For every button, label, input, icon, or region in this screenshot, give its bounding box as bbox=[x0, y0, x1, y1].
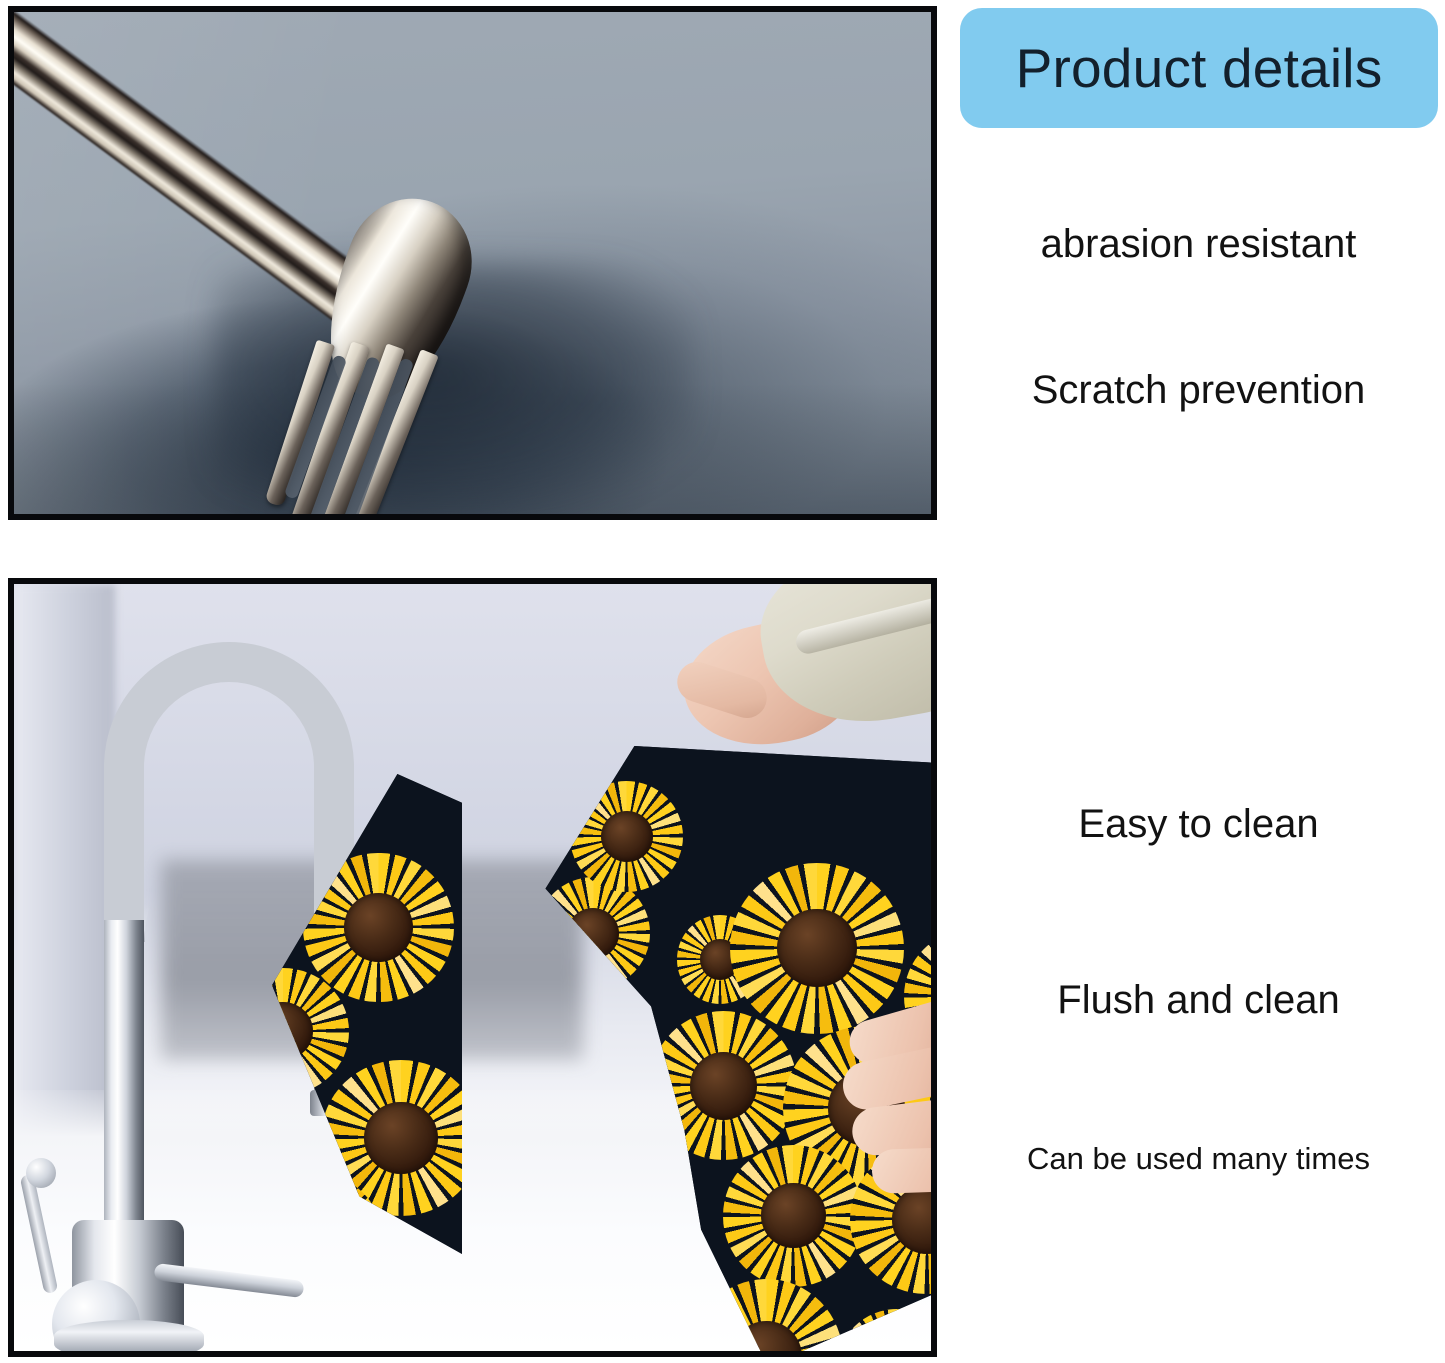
feature-abrasion-resistant: abrasion resistant bbox=[952, 222, 1445, 266]
faucet-side-lever-knob bbox=[26, 1158, 56, 1188]
feature-scratch-prevention: Scratch prevention bbox=[952, 368, 1445, 412]
feature-can-be-used-many-times: Can be used many times bbox=[952, 1142, 1445, 1176]
faucet-side-lever bbox=[20, 1174, 59, 1294]
lower-hand-holding-cloth bbox=[842, 1008, 937, 1188]
product-details-badge-label: Product details bbox=[1016, 41, 1383, 96]
faucet-riser bbox=[104, 920, 144, 1240]
product-details-panel: Product details abrasion resistant Scrat… bbox=[952, 0, 1445, 1363]
faucet-chrome-highlight bbox=[104, 642, 354, 942]
fork-on-countertop-photo bbox=[8, 6, 937, 520]
product-details-badge: Product details bbox=[960, 8, 1438, 128]
feature-easy-to-clean: Easy to clean bbox=[952, 802, 1445, 846]
faucet-base bbox=[54, 1320, 204, 1357]
feature-flush-and-clean: Flush and clean bbox=[952, 978, 1445, 1022]
lower-hand-finger bbox=[871, 1146, 937, 1194]
faucet-with-sunflower-cloth-photo bbox=[8, 578, 937, 1357]
upper-arm-holding-cloth bbox=[674, 578, 937, 778]
